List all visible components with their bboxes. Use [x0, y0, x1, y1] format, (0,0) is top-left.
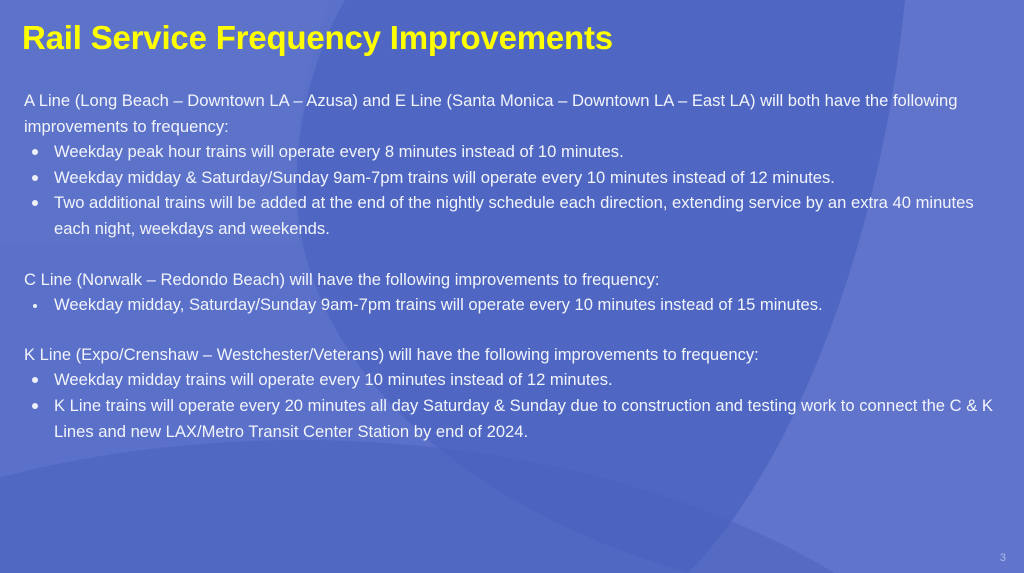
section-a-e-line: A Line (Long Beach – Downtown LA – Azusa…	[24, 88, 1004, 242]
section-spacer	[24, 242, 1004, 267]
list-item: Weekday peak hour trains will operate ev…	[24, 139, 1004, 165]
list-item: Weekday midday & Saturday/Sunday 9am-7pm…	[24, 165, 1004, 191]
bullet-list: Weekday midday trains will operate every…	[24, 367, 1004, 444]
list-item: Weekday midday trains will operate every…	[24, 367, 1004, 393]
list-item: Weekday midday, Saturday/Sunday 9am-7pm …	[24, 292, 1004, 318]
bullet-list: Weekday peak hour trains will operate ev…	[24, 139, 1004, 241]
section-k-line: K Line (Expo/Crenshaw – Westchester/Vete…	[24, 342, 1004, 444]
section-c-line: C Line (Norwalk – Redondo Beach) will ha…	[24, 267, 1004, 318]
page-number: 3	[1000, 552, 1006, 564]
slide-content: Rail Service Frequency Improvements A Li…	[0, 0, 1024, 573]
section-intro: A Line (Long Beach – Downtown LA – Azusa…	[24, 88, 984, 139]
list-item: Two additional trains will be added at t…	[24, 190, 1004, 241]
list-item: K Line trains will operate every 20 minu…	[24, 393, 1004, 444]
section-spacer	[24, 318, 1004, 342]
section-intro: K Line (Expo/Crenshaw – Westchester/Vete…	[24, 342, 984, 368]
section-intro: C Line (Norwalk – Redondo Beach) will ha…	[24, 267, 984, 293]
slide-body: A Line (Long Beach – Downtown LA – Azusa…	[24, 88, 1004, 444]
presentation-slide: Rail Service Frequency Improvements A Li…	[0, 0, 1024, 573]
bullet-list: Weekday midday, Saturday/Sunday 9am-7pm …	[24, 292, 1004, 318]
page-title: Rail Service Frequency Improvements	[22, 20, 613, 56]
